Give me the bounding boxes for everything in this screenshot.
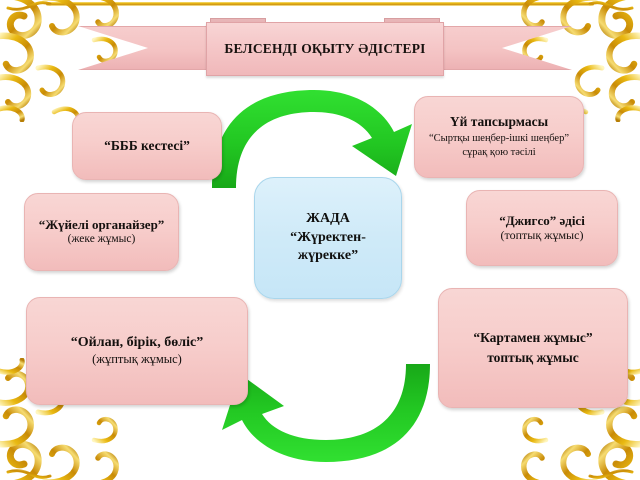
method-title: “Жүйелі органайзер” [39, 217, 165, 232]
ribbon-title-plate: БЕЛСЕНДІ ОҚЫТУ ӘДІСТЕРІ [206, 22, 444, 76]
slide-canvas: БЕЛСЕНДІ ОҚЫТУ ӘДІСТЕРІ “БББ кестесі” Үй [0, 0, 640, 480]
method-title: “БББ кестесі” [104, 138, 190, 154]
method-detail: “Сыртқы шеңбер-ішкі шеңбер” сұрақ қою тә… [423, 132, 575, 159]
method-title: Үй тапсырмасы [450, 114, 548, 130]
center-concept-box[interactable]: ЖАДА “Жүректен- жүрекке” [254, 177, 402, 299]
method-subtitle: (жеке жұмыс) [68, 233, 136, 247]
method-title: “Джигсо” әдісі [499, 213, 585, 228]
gold-rule-top [46, 2, 594, 6]
method-title: “Картамен жұмыс” [473, 328, 592, 348]
method-box-juyeli-organayzer[interactable]: “Жүйелі органайзер” (жеке жұмыс) [24, 193, 179, 271]
method-box-oilan-birik-bolis[interactable]: “Ойлан, бірік, бөліс” (жұптық жұмыс) [26, 297, 248, 405]
method-title: “Ойлан, бірік, бөліс” [71, 335, 203, 352]
title-ribbon: БЕЛСЕНДІ ОҚЫТУ ӘДІСТЕРІ [78, 18, 572, 80]
method-box-uy-tapsyrmasy[interactable]: Үй тапсырмасы “Сыртқы шеңбер-ішкі шеңбер… [414, 96, 584, 178]
center-line-3: жүрекке” [298, 247, 358, 265]
method-subtitle: (топтық жұмыс) [501, 228, 584, 242]
page-title: БЕЛСЕНДІ ОҚЫТУ ӘДІСТЕРІ [224, 41, 425, 57]
method-subtitle: (жұптық жұмыс) [92, 352, 182, 367]
method-box-jigso-adisi[interactable]: “Джигсо” әдісі (топтық жұмыс) [466, 190, 618, 266]
method-box-kartamen-jumys[interactable]: “Картамен жұмыс” топтық жұмыс [438, 288, 628, 408]
center-line-1: ЖАДА [306, 210, 350, 229]
method-box-bbb-kestesi[interactable]: “БББ кестесі” [72, 112, 222, 180]
center-line-2: “Жүректен- [290, 229, 366, 247]
method-subtitle: топтық жұмыс [487, 348, 579, 368]
